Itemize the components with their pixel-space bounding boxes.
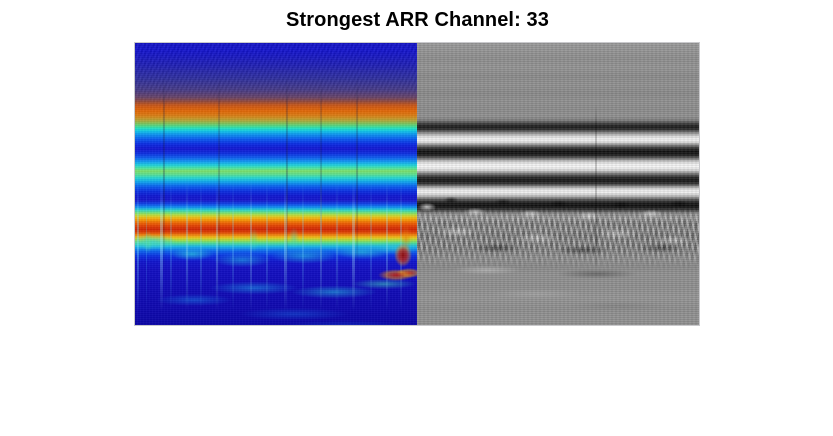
jet-pixel-noise (134, 42, 417, 326)
jet-amplitude-hotspot (134, 42, 417, 326)
gray-reflector-bands (417, 42, 700, 326)
gray-mottled-texture (417, 42, 700, 326)
figure-canvas: Strongest ARR Channel: 33 (0, 0, 833, 436)
gray-pixel-noise (417, 42, 700, 326)
gray-fault-line (417, 42, 700, 326)
jet-reflector-bands (134, 42, 417, 326)
gray-chaotic-zone (417, 42, 700, 326)
seismic-section-axes[interactable] (134, 42, 700, 326)
seismic-amplitude-panel[interactable] (417, 42, 700, 326)
page-title: Strongest ARR Channel: 33 (1, 8, 833, 32)
jet-fault-lineaments (134, 42, 417, 326)
jet-vertical-streaks (134, 42, 417, 326)
arr-attribute-panel[interactable] (134, 42, 417, 326)
jet-top-speckle (134, 42, 417, 326)
jet-diffuse-anomalies (134, 42, 417, 326)
